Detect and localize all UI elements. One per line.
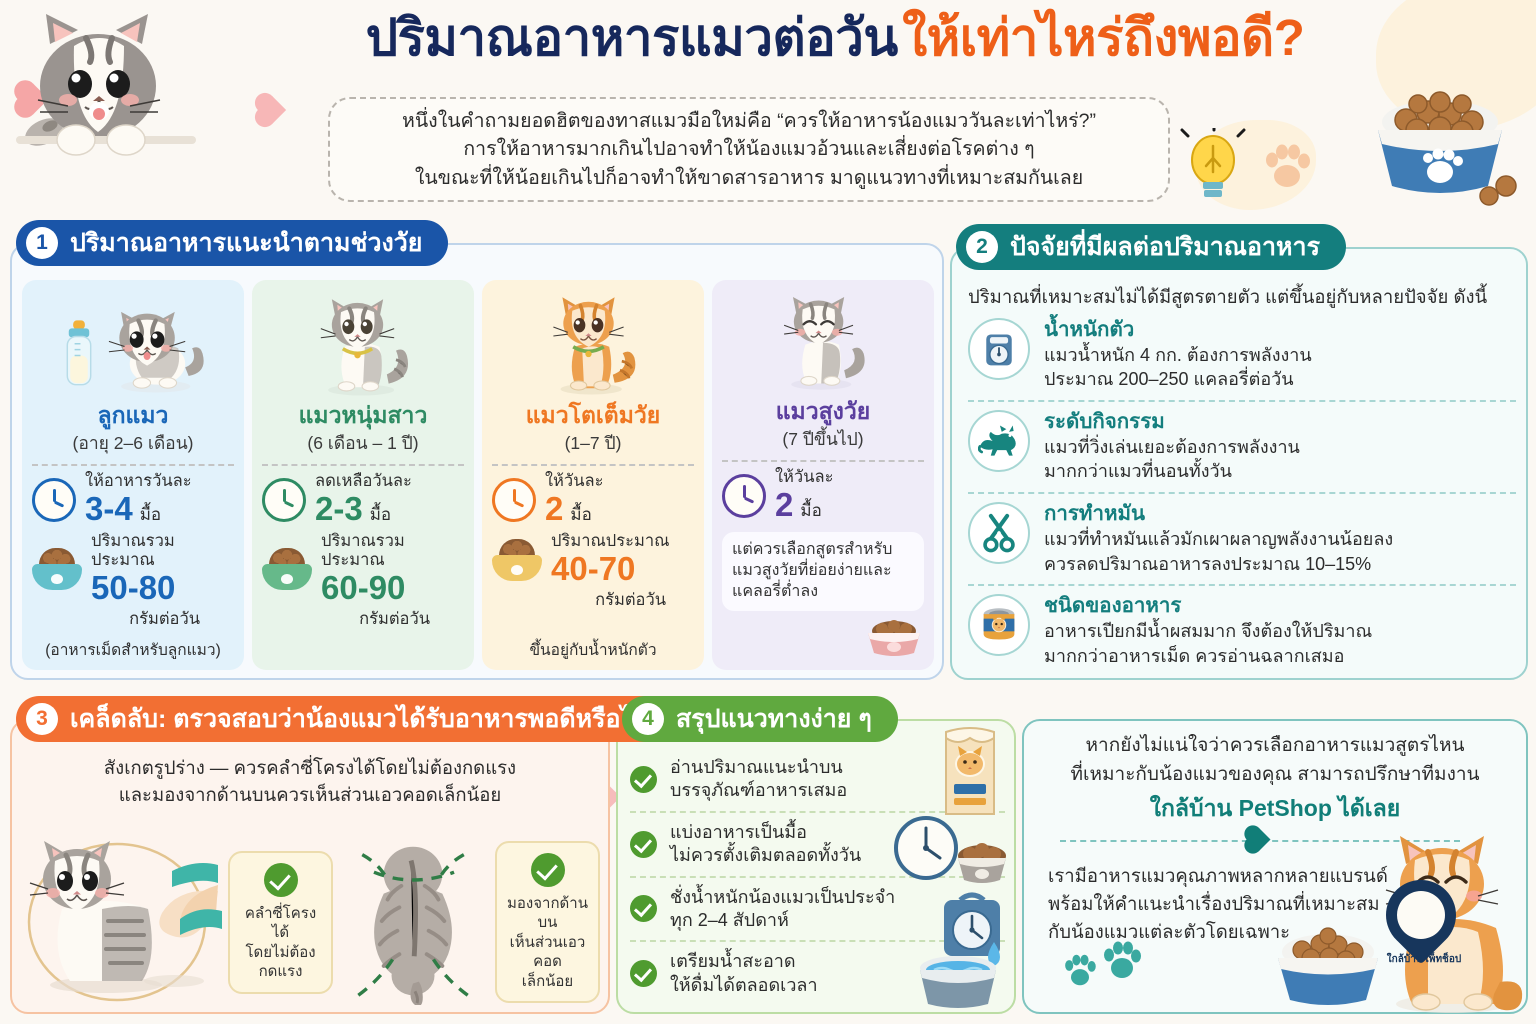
meal-label: ให้วันละ [545,472,603,491]
young-cat-illustration [262,288,464,400]
tip-line-1: เตรียมน้ำสะอาด [670,950,818,973]
tip-line-1: มองจากด้านบน [504,894,591,933]
section-1-heading: ปริมาณอาหารแนะนำตามช่วงวัย [70,223,422,263]
meal-label: ให้อาหารวันละ [85,472,192,491]
amount-row: ปริมาณรวมประมาณ 60-90 [262,532,464,606]
cta-bowl-illustration [1262,912,1394,1012]
food-bowl-icon [262,548,312,590]
intro-line-1: หนึ่งในคำถามยอดฮิตของทาสแมวมือใหม่คือ “ค… [402,107,1096,136]
section-1-header: 1 ปริมาณอาหารแนะนำตามช่วงวัย [16,220,448,266]
clock-icon [722,474,766,518]
amount-value: 50-80 [91,570,234,606]
factor-title: น้ำหนักตัว [1044,318,1134,341]
age-card-kitten: ลูกแมว (อายุ 2–6 เดือน) ให้อาหารวันละ 3-… [22,280,244,670]
cta-heading: หากยังไม่แน่ใจว่าควรเลือกอาหารแมวสูตรไหน… [1040,732,1510,826]
factors-list: น้ำหนักตัว แมวน้ำหนัก 4 กก. ต้องการพลังง… [968,310,1516,676]
desc-line-2: และมองจากด้านบนควรเห็นส่วนเอวคอดเล็กน้อย [30,782,590,809]
senior-note: แต่ควรเลือกสูตรสำหรับแมวสูงวัยที่ย่อยง่า… [722,532,924,610]
clock-icon [492,478,536,522]
section-3-body: คลำซี่โครงได้ โดยไม่ต้องกดแรง [22,838,600,1006]
map-pin-icon [1372,866,1471,965]
petshop-logo: ใกล้บ้าน เพ็ทช็อป [1386,880,1460,964]
amount-unit: กรัมต่อวัน [129,610,200,629]
section-4-header: 4 สรุปแนวทางง่าย ๆ [622,696,898,742]
card-title: ลูกแมว [98,402,169,428]
amount-value: 60-90 [321,570,464,606]
waist-check-illustration [339,839,489,1005]
divider [262,464,464,466]
meal-value: 3-4 [85,491,133,527]
section-3-number: 3 [26,703,58,735]
tip-line-2: ให้ดื่มได้ตลอดเวลา [670,974,818,997]
tip-line-1: คลำซี่โครงได้ [237,904,324,943]
desc-line-1: สังเกตรูปร่าง — ควรคลำซี่โครงได้โดยไม่ต้… [30,755,590,782]
cta-brand: ใกล้บ้าน PetShop ได้เลย [1040,791,1510,826]
factor-line-2: มากกว่าแมวที่นอนทั้งวัน [1044,460,1300,484]
check-icon [630,960,657,987]
section-2-heading: ปัจจัยที่มีผลต่อปริมาณอาหาร [1010,227,1320,267]
amount-value: 40-70 [551,551,669,587]
meal-unit: มื้อ [370,501,391,528]
cta-line-1: หากยังไม่แน่ใจว่าควรเลือกอาหารแมวสูตรไหน [1040,732,1510,761]
meal-label: ลดเหลือวันละ [315,472,412,491]
card-title: แมวหนุ่มสาว [299,402,428,428]
peeking-cat-illustration [16,4,196,199]
tip-line-1: แบ่งอาหารเป็นมื้อ [670,821,861,844]
meal-value: 2 [545,491,563,527]
title-accent: ให้เท่าไหร่ถึงพอดี? [902,9,1304,66]
paw-print-decor [1262,142,1312,190]
factor-line-1: แมวน้ำหนัก 4 กก. ต้องการพลังงาน [1044,344,1312,368]
tip-line-1: อ่านปริมาณแนะนำบน [670,756,847,779]
factor-line-1: แมวที่ทำหมันแล้วมักเผาผลาญพลังงานน้อยลง [1044,528,1393,552]
cta-body-line-1: เรามีอาหารแมวคุณภาพหลากหลายแบรนด์ [1048,862,1418,890]
young-cat [308,292,418,400]
intro-line-2: การให้อาหารมากเกินไปอาจทำให้น้องแมวอ้วนแ… [463,135,1034,164]
tip-line-1: ชั่งน้ำหนักน้องแมวเป็นประจำ [670,886,895,909]
factor-item: น้ำหนักตัว แมวน้ำหนัก 4 กก. ต้องการพลังง… [968,310,1516,402]
clock-bowl-icon [890,812,1010,886]
card-footnote: (อาหารเม็ดสำหรับลูกแมว) [45,641,221,660]
intro-line-3: ในขณะที่ให้น้อยเกินไปก็อาจทำให้ขาดสารอาห… [415,164,1083,193]
infographic-page: ปริมาณอาหารแมวต่อวัน ให้เท่าไหร่ถึงพอดี?… [0,0,1536,1024]
amount-label: ปริมาณรวมประมาณ [91,532,234,570]
card-age: (7 ปีขึ้นไป) [782,425,863,453]
card-title: แมวโตเต็มวัย [526,402,661,428]
check-icon [531,853,565,887]
factor-title: การทำหมัน [1044,502,1145,525]
check-icon [630,766,657,793]
logo-text: ใกล้บ้าน เพ็ทช็อป [1382,952,1466,967]
meal-row: ลดเหลือวันละ 2-3มื้อ [262,472,464,528]
factor-line-2: ควรลดปริมาณอาหารลงประมาณ 10–15% [1044,553,1393,577]
section-3-heading: เคล็ดลับ: ตรวจสอบว่าน้องแมวได้รับอาหารพอ… [70,699,650,739]
amount-unit: กรัมต่อวัน [595,591,666,610]
paw-print-icon-2 [1102,940,1142,985]
paw-print-icon-1 [1062,952,1098,993]
tip-line-2: บรรจุภัณฑ์อาหารเสมอ [670,779,847,802]
tip-line-2: ไม่ควรตั้งเติมตลอดทั้งวัน [670,844,861,867]
tip-box-waist: มองจากด้านบน เห็นส่วนเอวคอด เล็กน้อย [495,841,600,1004]
card-title: แมวสูงวัย [776,398,871,424]
scissors-icon [968,502,1030,564]
divider [492,464,694,466]
meal-unit: มื้อ [800,497,821,524]
tip-line-2: ทุก 2–4 สัปดาห์ [670,909,895,932]
factor-line-1: อาหารเปียกมีน้ำผสมมาก จึงต้องให้ปริมาณ [1044,620,1372,644]
kitten-cat [102,300,206,400]
tip-line-2: โดยไม่ต้องกดแรง [237,943,324,982]
factor-title: ระดับกิจกรรม [1044,410,1165,433]
senior-cat [770,288,876,396]
adult-cat [539,290,647,400]
milk-bottle-icon [60,308,98,400]
amount-row: ปริมาณรวมประมาณ 50-80 [32,532,234,606]
card-age: (1–7 ปี) [565,429,622,457]
factor-item: ชนิดของอาหาร อาหารเปียกมีน้ำผสมมาก จึงต้… [968,586,1516,676]
section-4-number: 4 [632,703,664,735]
adult-cat-illustration [492,288,694,400]
running-cat-icon [968,410,1030,472]
amount-label: ปริมาณประมาณ [551,532,669,551]
section-4-heading: สรุปแนวทางง่าย ๆ [676,699,872,739]
senior-bowl-icon [864,615,924,662]
heart-decor-2 [258,96,286,124]
intro-box: หนึ่งในคำถามยอดฮิตของทาสแมวมือใหม่คือ “ค… [328,97,1170,202]
factor-line-1: แมวที่วิ่งเล่นเยอะต้องการพลังงาน [1044,436,1300,460]
senior-cat-illustration [722,288,924,396]
factor-title: ชนิดของอาหาร [1044,594,1181,617]
card-age: (6 เดือน – 1 ปี) [307,429,418,457]
check-icon [630,831,657,858]
card-footnote: ขึ้นอยู่กับน้ำหนักตัว [529,641,656,660]
amount-label: ปริมาณรวมประมาณ [321,532,464,570]
meal-value: 2 [775,487,793,523]
meal-row: ให้วันละ 2มื้อ [492,472,694,528]
meal-value: 2-3 [315,491,363,527]
factor-item: การทำหมัน แมวที่ทำหมันแล้วมักเผาผลาญพลัง… [968,494,1516,586]
meal-row: ให้อาหารวันละ 3-4มื้อ [32,472,234,528]
water-bowl-icon [908,938,1012,1012]
kitten-illustration [32,288,234,400]
section-2-intro: ปริมาณที่เหมาะสมไม่ได้มีสูตรตายตัว แต่ขึ… [968,283,1487,312]
section-3-description: สังเกตรูปร่าง — ควรคลำซี่โครงได้โดยไม่ต้… [30,755,590,809]
meal-label: ให้วันละ [775,468,833,487]
check-icon [630,895,657,922]
food-bowl-icon [492,539,542,581]
check-icon [264,863,298,897]
tip-line-2: เห็นส่วนเอวคอด [504,933,591,972]
factor-line-2: ประมาณ 200–250 แคลอรี่ต่อวัน [1044,368,1312,392]
age-cards: ลูกแมว (อายุ 2–6 เดือน) ให้อาหารวันละ 3-… [22,280,934,670]
tip-box-ribs: คลำซี่โครงได้ โดยไม่ต้องกดแรง [228,851,333,994]
section-2-number: 2 [966,231,998,263]
section-1-number: 1 [26,227,58,259]
food-bowl-icon [32,548,82,590]
weight-scale-icon [968,318,1030,380]
clock-icon [32,478,76,522]
dog-bowl-illustration [1356,74,1524,206]
amount-unit: กรัมต่อวัน [359,610,430,629]
cta-line-2: ที่เหมาะกับน้องแมวของคุณ สามารถปรึกษาทีม… [1040,761,1510,790]
meal-unit: มื้อ [570,501,591,528]
factor-line-2: มากกว่าอาหารเม็ด ควรอ่านฉลากเสมอ [1044,645,1372,669]
age-card-senior: แมวสูงวัย (7 ปีขึ้นไป) ให้วันละ 2มื้อ แต… [712,280,934,670]
card-age: (อายุ 2–6 เดือน) [73,429,194,457]
rib-check-illustration [22,839,222,1005]
meal-unit: มื้อ [140,501,161,528]
factor-item: ระดับกิจกรรม แมวที่วิ่งเล่นเยอะต้องการพล… [968,402,1516,494]
tip-line-3: เล็กน้อย [504,972,591,992]
divider [722,460,924,462]
amount-row: ปริมาณประมาณ 40-70 [492,532,694,587]
page-title: ปริมาณอาหารแมวต่อวัน ให้เท่าไหร่ถึงพอดี? [230,10,1440,66]
lightbulb-icon [1180,128,1246,206]
clock-icon [262,478,306,522]
divider [32,464,234,466]
food-bag-icon [930,722,1010,822]
title-main: ปริมาณอาหารแมวต่อวัน [366,9,898,66]
age-card-adult: แมวโตเต็มวัย (1–7 ปี) ให้วันละ 2มื้อ ปริ… [482,280,704,670]
section-2-header: 2 ปัจจัยที่มีผลต่อปริมาณอาหาร [956,224,1346,270]
cat-food-can-icon [968,594,1030,656]
section-3-header: 3 เคล็ดลับ: ตรวจสอบว่าน้องแมวได้รับอาหาร… [16,696,676,742]
age-card-young: แมวหนุ่มสาว (6 เดือน – 1 ปี) ลดเหลือวันล… [252,280,474,670]
meal-row: ให้วันละ 2มื้อ [722,468,924,524]
